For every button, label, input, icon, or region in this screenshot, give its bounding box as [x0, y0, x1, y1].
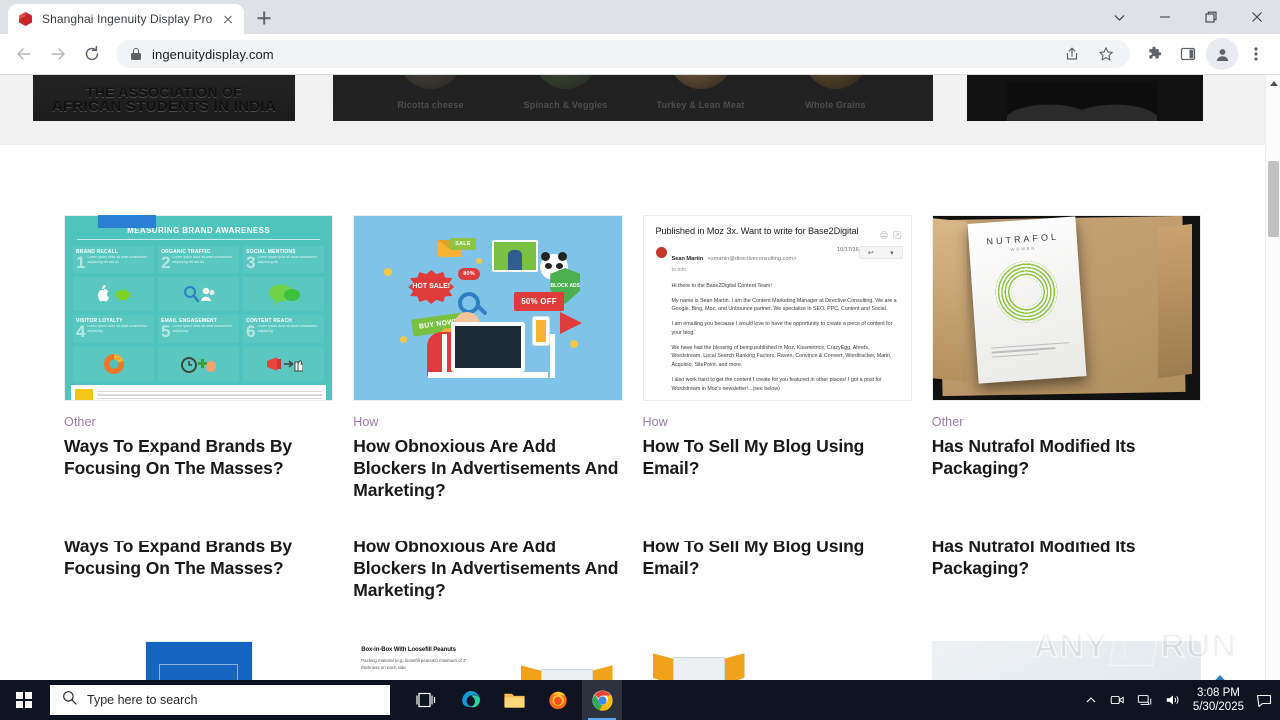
share-icon[interactable] [1056, 38, 1088, 70]
email-toolbar [880, 226, 901, 234]
article-category[interactable]: Other [932, 415, 1201, 429]
infographic-cell-number: 2 [161, 255, 170, 270]
browser-toolbar: ingenuitydisplay.com [0, 34, 1280, 74]
article-thumbnail[interactable]: SALE HOT SALE! 80% BLOCK ADS 50% OFF BUY… [353, 215, 622, 401]
article-row-1: MEASURING BRAND AWARENESS BRAND RECALL1L… [64, 215, 1201, 501]
new-tab-button[interactable] [250, 4, 278, 32]
omnibox-actions [1056, 38, 1122, 70]
food-item-label: Ricotta cheese [397, 100, 463, 110]
article-title[interactable]: Ways To Expand Brands By Focusing On The… [64, 435, 333, 479]
nutrafol-product-image: NUTRAFOL WOMEN [933, 216, 1200, 400]
article-title[interactable]: Has Nutrafol Modified Its Packaging? [932, 435, 1201, 479]
chrome-menu-icon[interactable] [1240, 38, 1272, 70]
email-sender-name: Sean Martin [672, 256, 704, 262]
ad-association-banner[interactable]: THE ASSOCIATION OF AFRICAN STUDENTS IN I… [33, 75, 295, 121]
address-bar[interactable]: ingenuitydisplay.com [116, 40, 1130, 68]
food-item-label: Spinach & Veggies [524, 100, 608, 110]
email-paragraph: My name is Sean Martin. I am the Content… [672, 297, 901, 314]
article-grid: MEASURING BRAND AWARENESS BRAND RECALL1L… [0, 215, 1265, 720]
close-window-icon[interactable] [1234, 0, 1280, 34]
taskbar-date: 5/30/2025 [1193, 700, 1244, 714]
extensions-puzzle-icon[interactable] [1138, 38, 1170, 70]
magnifier-icon [458, 292, 480, 314]
tab-favicon-icon [18, 11, 34, 27]
minimize-icon[interactable] [1142, 0, 1188, 34]
product-fineprint [991, 342, 1069, 361]
system-tray: 3:08 PM 5/30/2025 [1085, 686, 1280, 715]
infographic-logo-badge [75, 389, 93, 401]
task-view-icon[interactable] [406, 680, 446, 720]
article-card-duplicate[interactable]: Has Nutrafol Modified Its Packaging? [932, 535, 1201, 601]
firefox-icon[interactable] [538, 680, 578, 720]
file-explorer-icon[interactable] [494, 680, 534, 720]
close-tab-icon[interactable] [220, 11, 236, 27]
infographic-icons-search-users [158, 277, 239, 311]
volume-icon[interactable] [1165, 693, 1181, 707]
article-thumbnail[interactable]: NUTRAFOL WOMEN [932, 215, 1201, 401]
infographic-icon-speech-bubble [243, 277, 324, 311]
article-title[interactable]: How Obnoxious Are Add Blockers In Advert… [353, 435, 622, 501]
article-card[interactable]: MEASURING BRAND AWARENESS BRAND RECALL1L… [64, 215, 333, 501]
restore-icon[interactable] [1188, 0, 1234, 34]
food-item-label: Whole Grains [805, 100, 865, 110]
infographic-icon-donut-chart [73, 347, 154, 381]
ad-association-line1: THE ASSOCIATION OF [86, 85, 242, 100]
article-title[interactable]: How To Sell My Blog Using Email? [643, 535, 912, 579]
chrome-icon[interactable] [582, 680, 622, 720]
email-subject: Published in Moz 3x. Want to write for B… [656, 226, 901, 236]
infographic-cell-number: 4 [76, 324, 85, 339]
food-item: Turkey & Lean Meat [646, 95, 756, 113]
search-icon [62, 690, 77, 710]
tab-strip: Shanghai Ingenuity Display Prod [0, 0, 1280, 34]
ad-tag-50-off: 50% OFF [514, 292, 564, 311]
article-category[interactable]: How [643, 415, 912, 429]
email-body: Hi there to the Base2Digital Content Tea… [672, 282, 901, 393]
article-card[interactable]: NUTRAFOL WOMEN Other Has Nutrafol Modifi… [932, 215, 1201, 501]
edge-icon[interactable] [450, 680, 490, 720]
email-paragraph: Hi there to the Base2Digital Content Tea… [672, 282, 901, 291]
taskbar-search-placeholder: Type here to search [87, 693, 197, 707]
email-actions[interactable]: ↩▾ [859, 246, 903, 259]
article-card[interactable]: Published in Moz 3x. Want to write for B… [643, 215, 912, 501]
infographic-icon-megaphone-thumb [243, 347, 324, 381]
email-date: 10/17/16 [837, 247, 859, 253]
food-item-label: Turkey & Lean Meat [657, 100, 745, 110]
article-row-2: Ways To Expand Brands By Focusing On The… [64, 535, 1201, 601]
ad-illustration-image: SALE HOT SALE! 80% BLOCK ADS 50% OFF BUY… [354, 216, 621, 400]
web-page-content: THE ASSOCIATION OF AFRICAN STUDENTS IN I… [0, 75, 1265, 720]
scrollbar-thumb[interactable] [1268, 161, 1279, 237]
tab-search-chevron-down-icon[interactable] [1096, 0, 1142, 34]
email-paragraph: We have had the blessing of being publis… [672, 344, 901, 370]
infographic-cell-number: 3 [246, 255, 255, 270]
taskbar-app-icons [406, 680, 622, 720]
windows-start-icon [16, 692, 32, 708]
reload-icon[interactable] [76, 38, 108, 70]
article-title[interactable]: How Obnoxious Are Add Blockers In Advert… [353, 535, 622, 601]
product-variant: WOMEN [1010, 245, 1036, 252]
packaging-heading: Box-in-Box With Loosefill Peanuts [361, 647, 614, 653]
profile-avatar-icon[interactable] [1206, 38, 1238, 70]
ad-tag: 80% [458, 268, 480, 280]
sender-avatar [656, 247, 667, 258]
top-ad-band: THE ASSOCIATION OF AFRICAN STUDENTS IN I… [0, 75, 1265, 145]
reply-icon[interactable]: ↩ [868, 249, 874, 257]
more-options-icon[interactable]: ▾ [890, 249, 894, 257]
windows-taskbar: Type here to search [0, 680, 1280, 720]
megaphone-icon [560, 312, 582, 334]
page-viewport: THE ASSOCIATION OF AFRICAN STUDENTS IN I… [0, 74, 1280, 720]
print-icon [880, 226, 888, 234]
food-item: Whole Grains [781, 95, 891, 113]
tab-title: Shanghai Ingenuity Display Prod [42, 12, 212, 26]
taskbar-clock[interactable]: 3:08 PM 5/30/2025 [1193, 686, 1244, 715]
open-in-new-window-icon [893, 226, 901, 234]
email-recipient: to info [672, 267, 797, 273]
product-brand: NUTRAFOL [986, 232, 1059, 247]
article-title[interactable]: How To Sell My Blog Using Email? [643, 435, 912, 479]
infographic-footer [71, 385, 326, 401]
infographic-image: MEASURING BRAND AWARENESS BRAND RECALL1L… [65, 216, 332, 400]
side-panel-icon[interactable] [1172, 38, 1204, 70]
camera-icon[interactable] [1109, 693, 1125, 707]
address-bar-url: ingenuitydisplay.com [152, 47, 274, 62]
scroll-up-arrow-icon[interactable] [1266, 75, 1280, 92]
ad-food-banner[interactable]: Ricotta cheese Spinach & Veggies Turkey … [333, 75, 933, 121]
forward-arrow-icon[interactable] [42, 38, 74, 70]
article-category[interactable]: Other [64, 415, 333, 429]
infographic-cell-number: 5 [161, 324, 170, 339]
email-paragraph: I am emailing you because I would love t… [672, 320, 901, 337]
window-controls [1096, 0, 1280, 34]
infographic-title: MEASURING BRAND AWARENESS [77, 226, 320, 240]
ad-dark-banner[interactable] [967, 75, 1203, 121]
email-sender-address: <smartin@directiveconsulting.com> [708, 256, 797, 262]
taskbar-search-input[interactable]: Type here to search [50, 685, 390, 715]
gmail-screenshot-image: Published in Moz 3x. Want to write for B… [644, 216, 911, 400]
taskbar-time: 3:08 PM [1193, 686, 1244, 700]
page-scrollbar[interactable] [1265, 75, 1280, 720]
infographic-cell-number: 1 [76, 255, 85, 270]
phone-icon [532, 316, 550, 346]
ad-association-line2: AFRICAN STUDENTS IN INDIA [52, 99, 276, 115]
infographic-icon-stopwatch-click [158, 347, 239, 381]
text-selection-highlight [98, 215, 156, 228]
show-hidden-icons-chevron-up-icon[interactable] [1085, 694, 1097, 706]
ad-dark-image [1007, 81, 1157, 121]
ad-tag-hot-sale: HOT SALE! [408, 270, 454, 304]
article-card-duplicate[interactable]: Ways To Expand Brands By Focusing On The… [64, 535, 333, 601]
infographic-footer-text [97, 391, 322, 401]
browser-tab[interactable]: Shanghai Ingenuity Display Prod [8, 4, 244, 34]
email-paragraph: I also work hard to get the content I cr… [672, 376, 901, 393]
start-button[interactable] [0, 680, 48, 720]
action-center-notification-icon[interactable] [1256, 693, 1272, 708]
article-title[interactable]: Has Nutrafol Modified Its Packaging? [932, 535, 1201, 579]
bookmark-star-icon[interactable] [1090, 38, 1122, 70]
infographic-cell-number: 6 [246, 324, 255, 339]
ad-tag: SALE [450, 238, 475, 250]
packaging-note: Packing material (e.g. loosefill peanuts… [361, 658, 477, 671]
back-arrow-icon[interactable] [8, 38, 40, 70]
food-item: Spinach & Veggies [511, 95, 621, 113]
article-thumbnail[interactable]: Published in Moz 3x. Want to write for B… [643, 215, 912, 401]
article-card-duplicate[interactable]: How Obnoxious Are Add Blockers In Advert… [353, 535, 622, 601]
monitor-icon [451, 322, 525, 372]
lock-icon [130, 47, 142, 61]
article-category[interactable]: How [353, 415, 622, 429]
article-thumbnail[interactable]: MEASURING BRAND AWARENESS BRAND RECALL1L… [64, 215, 333, 401]
article-card[interactable]: SALE HOT SALE! 80% BLOCK ADS 50% OFF BUY… [353, 215, 622, 501]
network-icon[interactable] [1137, 693, 1153, 707]
tablet-icon [492, 240, 538, 272]
chrome-browser-window: Shanghai Ingenuity Display Prod [0, 0, 1280, 720]
article-title[interactable]: Ways To Expand Brands By Focusing On The… [64, 535, 333, 579]
infographic-icons-apple-android [73, 277, 154, 311]
product-logo-rings [993, 259, 1059, 325]
article-card-duplicate[interactable]: How To Sell My Blog Using Email? [643, 535, 912, 601]
food-item: Ricotta cheese [376, 95, 486, 113]
